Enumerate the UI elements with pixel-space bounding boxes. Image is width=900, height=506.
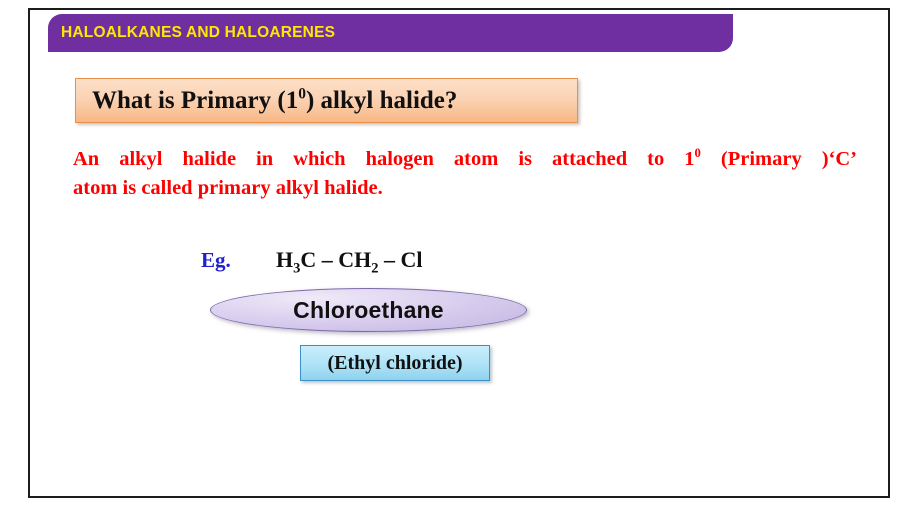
example-label: Eg.: [201, 248, 231, 273]
compound-name-ellipse: Chloroethane: [210, 288, 527, 332]
question-box: What is Primary (10) alkyl halide?: [75, 78, 578, 123]
question-text-before: What is Primary (1: [92, 87, 298, 114]
formula-segment-3: – Cl: [379, 247, 423, 272]
question-text-after: ) alkyl halide?: [306, 87, 457, 114]
header-banner: HALOALKANES AND HALOARENES: [48, 14, 733, 52]
definition-line1-after: (Primary )‘C’: [701, 148, 857, 170]
definition-paragraph: An alkyl halide in which halogen atom is…: [73, 145, 857, 203]
header-title: HALOALKANES AND HALOARENES: [61, 24, 335, 42]
compound-synonym-box: (Ethyl chloride): [300, 345, 490, 381]
formula-segment-2: C – CH: [300, 247, 371, 272]
definition-line-1: An alkyl halide in which halogen atom is…: [73, 145, 857, 174]
question-superscript: 0: [298, 85, 306, 102]
definition-line-2: atom is called primary alkyl halide.: [73, 174, 857, 203]
slide-canvas: HALOALKANES AND HALOARENES What is Prima…: [0, 0, 900, 506]
compound-synonym-label: (Ethyl chloride): [328, 352, 463, 375]
question-text: What is Primary (10) alkyl halide?: [92, 87, 457, 115]
formula-segment-1: H: [276, 247, 293, 272]
definition-line1-before: An alkyl halide in which halogen atom is…: [73, 148, 695, 170]
chemical-formula: H3C – CH2 – Cl: [276, 247, 423, 273]
compound-name-label: Chloroethane: [293, 297, 444, 324]
formula-subscript-2: 2: [371, 260, 378, 276]
